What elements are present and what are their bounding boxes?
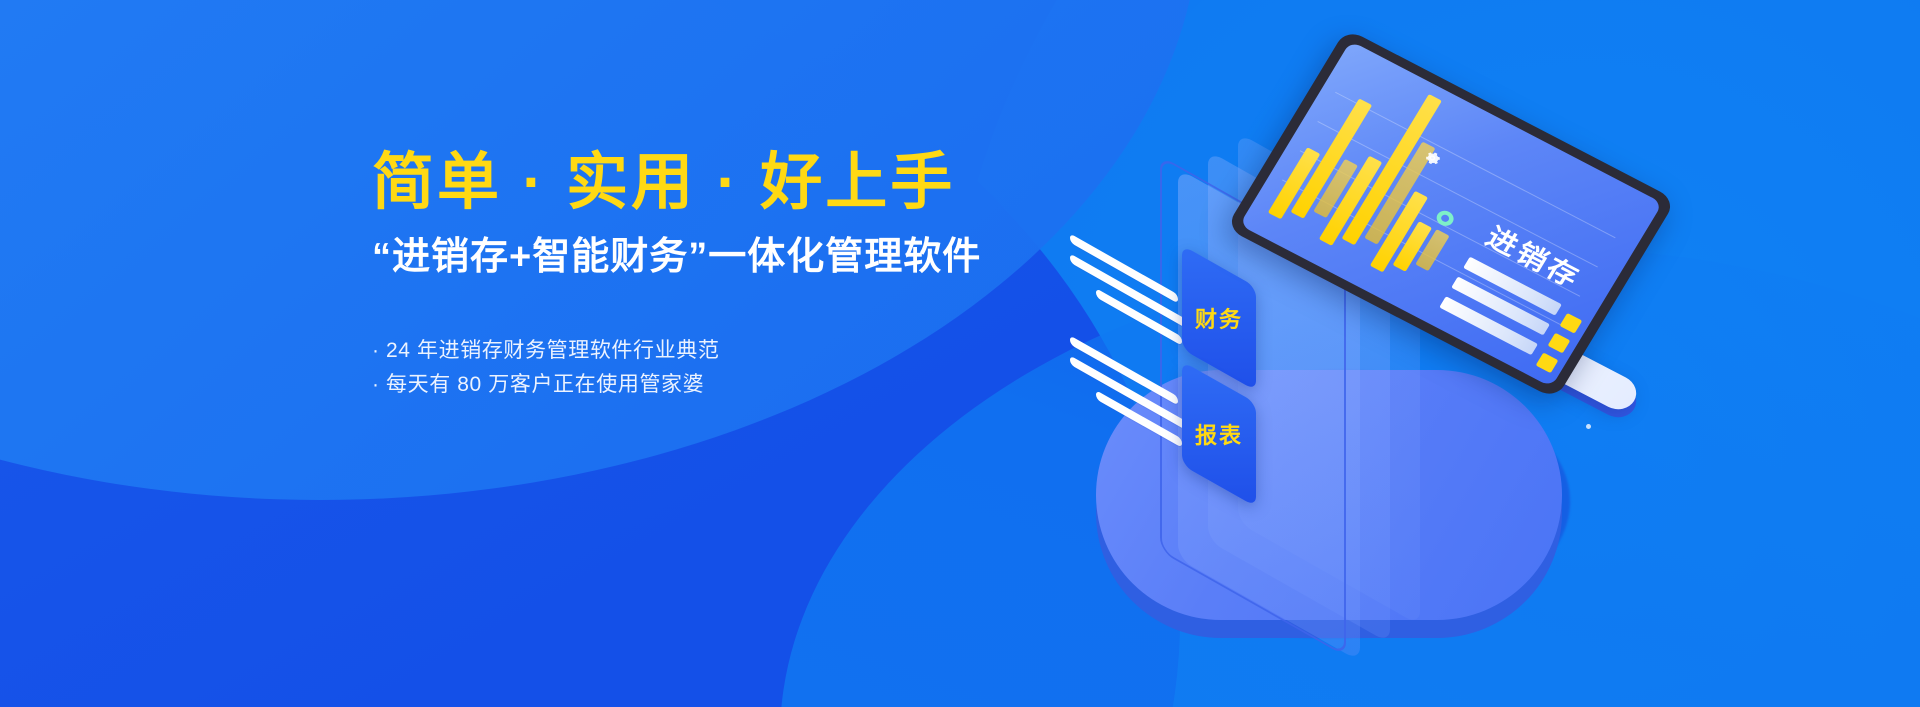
screen-chip (1560, 313, 1583, 334)
screen-chip (1536, 352, 1559, 373)
promo-banner: 简单 · 实用 · 好上手 “进销存+智能财务”一体化管理软件 · 24 年进销… (0, 0, 1920, 707)
copy-block: 简单 · 实用 · 好上手 “进销存+智能财务”一体化管理软件 · 24 年进销… (372, 150, 1092, 402)
laptop-screen: 进销存 (1226, 28, 1677, 399)
list-item: · 24 年进销存财务管理软件行业典范 (372, 334, 1092, 368)
laptop-icon: 进销存 (1226, 70, 1626, 470)
page-subtitle: “进销存+智能财务”一体化管理软件 (372, 225, 1092, 280)
screen-chip (1548, 333, 1571, 354)
screen-face: 进销存 (1239, 41, 1662, 387)
page-title: 简单 · 实用 · 好上手 (372, 150, 1092, 215)
list-item: · 每天有 80 万客户正在使用管家婆 (372, 368, 1092, 402)
feature-bullet-list: · 24 年进销存财务管理软件行业典范 · 每天有 80 万客户正在使用管家婆 (372, 334, 1092, 402)
hero-illustration: 财务 报表 (1060, 70, 1620, 650)
